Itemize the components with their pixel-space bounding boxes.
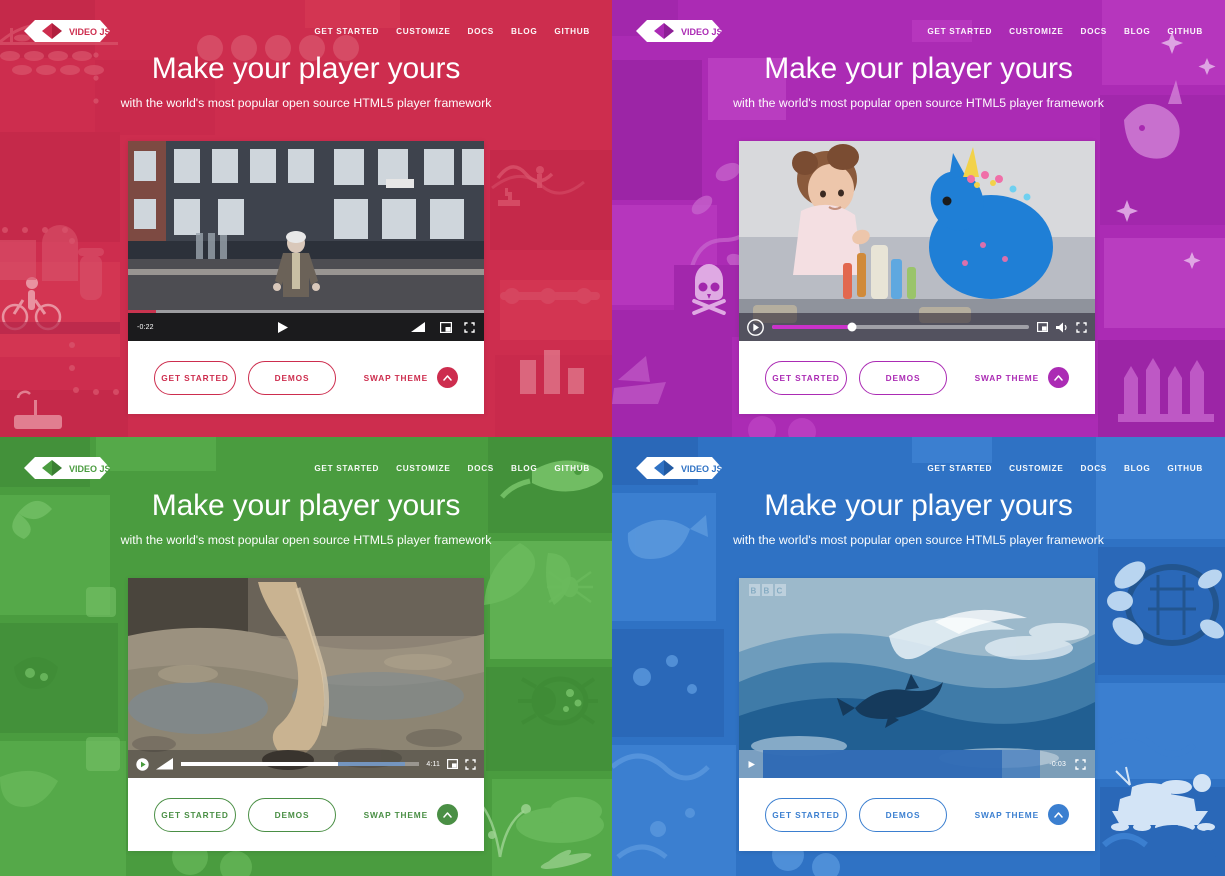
header-green: VIDEO JS GET STARTED CUSTOMIZE DOCS BLOG… (0, 437, 612, 499)
play-button-icon[interactable] (739, 750, 763, 778)
progress-bar-green[interactable] (181, 762, 419, 766)
page-subtitle: with the world's most popular open sourc… (20, 533, 592, 547)
videojs-logo-icon[interactable]: VIDEO JS (22, 18, 112, 44)
play-button-icon[interactable] (276, 321, 289, 334)
picture-in-picture-icon[interactable] (440, 322, 452, 333)
demos-button[interactable]: DEMOS (859, 798, 947, 832)
player-card-purple: GET STARTED DEMOS SWAP THEME (739, 141, 1095, 414)
video-frame-girl-unicorn (739, 141, 1095, 341)
current-time-label: -0:22 (137, 324, 154, 331)
main-nav: GET STARTED CUSTOMIZE DOCS BLOG GITHUB (927, 464, 1203, 473)
nav-github[interactable]: GITHUB (554, 464, 590, 473)
main-nav: GET STARTED CUSTOMIZE DOCS BLOG GITHUB (314, 464, 590, 473)
swap-theme-label: SWAP THEME (975, 373, 1039, 383)
videojs-logo-icon[interactable]: VIDEO JS (634, 18, 724, 44)
svg-text:VIDEO JS: VIDEO JS (681, 27, 723, 37)
player-controls-purple[interactable] (739, 313, 1095, 341)
video-player-purple[interactable] (739, 141, 1095, 341)
progress-bar-purple[interactable] (772, 325, 1029, 329)
volume-icon[interactable] (411, 322, 426, 333)
nav-docs[interactable]: DOCS (468, 464, 494, 473)
card-actions-red: GET STARTED DEMOS SWAP THEME (128, 341, 484, 414)
fullscreen-icon[interactable] (1075, 759, 1086, 770)
player-controls-green[interactable]: 4:11 (128, 750, 484, 778)
nav-blog[interactable]: BLOG (511, 464, 537, 473)
remaining-time-label: -0:03 (1049, 761, 1066, 768)
nav-get-started[interactable]: GET STARTED (927, 464, 992, 473)
progress-bar-blue[interactable] (763, 750, 1040, 778)
play-button-icon[interactable] (747, 319, 764, 336)
player-card-green: 4:11 GET STARTED DEMOS SWAP THEME (128, 578, 484, 851)
remaining-time-label: 4:11 (426, 761, 440, 768)
get-started-button[interactable]: GET STARTED (154, 361, 236, 395)
header-blue: VIDEO JS GET STARTED CUSTOMIZE DOCS BLOG… (612, 437, 1225, 499)
videojs-logo-icon[interactable]: VIDEO JS (22, 455, 112, 481)
swap-theme-label: SWAP THEME (975, 810, 1039, 820)
svg-text:VIDEO JS: VIDEO JS (69, 27, 111, 37)
nav-docs[interactable]: DOCS (1081, 464, 1107, 473)
video-frame-animal-water (128, 578, 484, 778)
svg-text:B: B (751, 587, 757, 596)
nav-docs[interactable]: DOCS (468, 27, 494, 36)
fullscreen-icon[interactable] (1076, 322, 1087, 333)
player-card-red: -0:22 (128, 141, 484, 414)
nav-github[interactable]: GITHUB (1167, 464, 1203, 473)
svg-text:VIDEO JS: VIDEO JS (681, 464, 723, 474)
volume-icon[interactable] (156, 758, 174, 770)
panel-red: VIDEO JS GET STARTED CUSTOMIZE DOCS BLOG… (0, 0, 612, 437)
swap-theme-label: SWAP THEME (364, 810, 428, 820)
theme-grid: VIDEO JS GET STARTED CUSTOMIZE DOCS BLOG… (0, 0, 1225, 876)
fullscreen-icon[interactable] (464, 322, 475, 333)
nav-customize[interactable]: CUSTOMIZE (396, 464, 450, 473)
player-right-controls: -0:03 (1040, 759, 1095, 770)
get-started-button[interactable]: GET STARTED (154, 798, 236, 832)
chevron-up-icon[interactable] (437, 367, 458, 388)
nav-github[interactable]: GITHUB (1167, 27, 1203, 36)
picture-in-picture-icon[interactable] (447, 759, 458, 769)
volume-icon[interactable] (1056, 322, 1068, 333)
nav-blog[interactable]: BLOG (1124, 27, 1150, 36)
nav-customize[interactable]: CUSTOMIZE (1009, 27, 1063, 36)
demos-button[interactable]: DEMOS (248, 361, 336, 395)
swap-theme-control[interactable]: SWAP THEME (975, 367, 1069, 388)
video-frame-dolphin-wave: B B C (739, 578, 1095, 778)
chevron-up-icon[interactable] (437, 804, 458, 825)
chevron-up-icon[interactable] (1048, 804, 1069, 825)
demos-button[interactable]: DEMOS (248, 798, 336, 832)
card-actions-purple: GET STARTED DEMOS SWAP THEME (739, 341, 1095, 414)
card-actions-blue: GET STARTED DEMOS SWAP THEME (739, 778, 1095, 851)
video-player-green[interactable]: 4:11 (128, 578, 484, 778)
demos-button[interactable]: DEMOS (859, 361, 947, 395)
player-controls-blue[interactable]: -0:03 (739, 750, 1095, 778)
nav-get-started[interactable]: GET STARTED (314, 27, 379, 36)
nav-blog[interactable]: BLOG (511, 27, 537, 36)
page-subtitle: with the world's most popular open sourc… (632, 96, 1205, 110)
nav-get-started[interactable]: GET STARTED (927, 27, 992, 36)
main-nav: GET STARTED CUSTOMIZE DOCS BLOG GITHUB (314, 27, 590, 36)
player-card-blue: B B C -0:03 (739, 578, 1095, 851)
get-started-button[interactable]: GET STARTED (765, 798, 847, 832)
svg-text:C: C (777, 587, 783, 596)
svg-text:B: B (764, 587, 770, 596)
page-subtitle: with the world's most popular open sourc… (20, 96, 592, 110)
swap-theme-control[interactable]: SWAP THEME (975, 804, 1069, 825)
header-red: VIDEO JS GET STARTED CUSTOMIZE DOCS BLOG… (0, 0, 612, 62)
page-subtitle: with the world's most popular open sourc… (632, 533, 1205, 547)
nav-blog[interactable]: BLOG (1124, 464, 1150, 473)
videojs-logo-icon[interactable]: VIDEO JS (634, 455, 724, 481)
progress-bar-red[interactable] (128, 310, 484, 313)
video-player-red[interactable]: -0:22 (128, 141, 484, 341)
svg-text:VIDEO JS: VIDEO JS (69, 464, 111, 474)
nav-customize[interactable]: CUSTOMIZE (1009, 464, 1063, 473)
swap-theme-control[interactable]: SWAP THEME (364, 804, 458, 825)
nav-docs[interactable]: DOCS (1081, 27, 1107, 36)
panel-green: VIDEO JS GET STARTED CUSTOMIZE DOCS BLOG… (0, 437, 612, 876)
main-nav: GET STARTED CUSTOMIZE DOCS BLOG GITHUB (927, 27, 1203, 36)
panel-purple: VIDEO JS GET STARTED CUSTOMIZE DOCS BLOG… (612, 0, 1225, 437)
panel-blue: VIDEO JS GET STARTED CUSTOMIZE DOCS BLOG… (612, 437, 1225, 876)
nav-get-started[interactable]: GET STARTED (314, 464, 379, 473)
header-purple: VIDEO JS GET STARTED CUSTOMIZE DOCS BLOG… (612, 0, 1225, 62)
get-started-button[interactable]: GET STARTED (765, 361, 847, 395)
play-button-icon[interactable] (136, 758, 149, 771)
chevron-up-icon[interactable] (1048, 367, 1069, 388)
video-player-blue[interactable]: B B C -0:03 (739, 578, 1095, 778)
fullscreen-icon[interactable] (465, 759, 476, 770)
player-controls-red[interactable]: -0:22 (128, 313, 484, 341)
picture-in-picture-icon[interactable] (1037, 322, 1048, 332)
swap-theme-control[interactable]: SWAP THEME (364, 367, 458, 388)
card-actions-green: GET STARTED DEMOS SWAP THEME (128, 778, 484, 851)
swap-theme-label: SWAP THEME (364, 373, 428, 383)
nav-customize[interactable]: CUSTOMIZE (396, 27, 450, 36)
nav-github[interactable]: GITHUB (554, 27, 590, 36)
